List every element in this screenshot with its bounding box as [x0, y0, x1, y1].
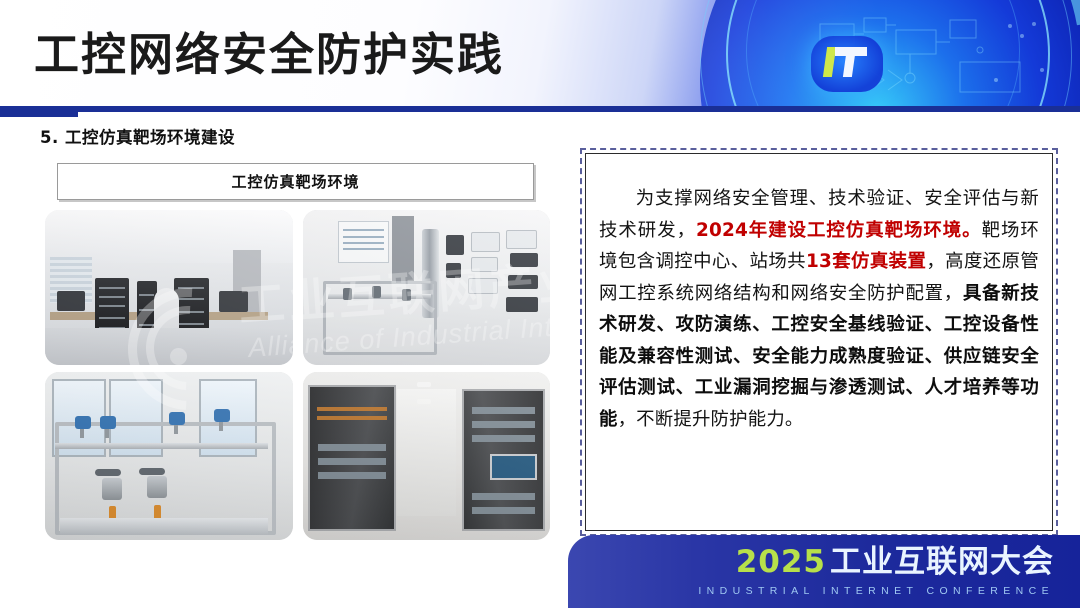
header-divider: [0, 106, 1080, 112]
photo-caption-label: 工控仿真靶场环境: [231, 171, 359, 192]
photo-simulation-skid: [303, 210, 550, 365]
header-divider-accent: [0, 106, 78, 117]
photo-cabinet-corridor: [303, 372, 550, 540]
section-heading: 5. 工控仿真靶场环境建设: [40, 124, 235, 148]
it-logo-badge: [811, 36, 883, 92]
photo-grid: [45, 210, 550, 540]
slide-root: 工控网络安全防护实践 5. 工控仿真靶场环境建设 工控仿真靶场环境: [0, 0, 1080, 608]
text-seg-4-highlight: 13套仿真装置: [806, 251, 926, 272]
text-seg-6-bold: 具备新技术研发、攻防演练、工控安全基线验证、工控设备性能及兼容性测试、安全能力成…: [599, 283, 1039, 430]
page-title: 工控网络安全防护实践: [34, 18, 504, 83]
conference-name-en: INDUSTRIAL INTERNET CONFERENCE: [698, 585, 1054, 597]
photo-caption-box: 工控仿真靶场环境: [57, 163, 534, 200]
slide-footer: 2025 工业互联网大会 INDUSTRIAL INTERNET CONFERE…: [568, 535, 1080, 608]
conference-logo: 2025 工业互联网大会 INDUSTRIAL INTERNET CONFERE…: [698, 547, 1054, 597]
text-seg-2-highlight: 2024年建设工控仿真靶场环境。: [696, 220, 982, 241]
conference-year: 2025: [736, 547, 826, 578]
conference-name-cn: 工业互联网大会: [830, 547, 1054, 578]
description-paragraph: 为支撑网络安全管理、技术验证、安全评估与新技术研发，2024年建设工控仿真靶场环…: [599, 183, 1039, 435]
photo-valve-pipeline: [45, 372, 293, 540]
photo-control-center: [45, 210, 293, 365]
description-panel: 为支撑网络安全管理、技术验证、安全评估与新技术研发，2024年建设工控仿真靶场环…: [580, 148, 1058, 536]
text-seg-7: ，不断提升防护能力。: [618, 409, 804, 430]
